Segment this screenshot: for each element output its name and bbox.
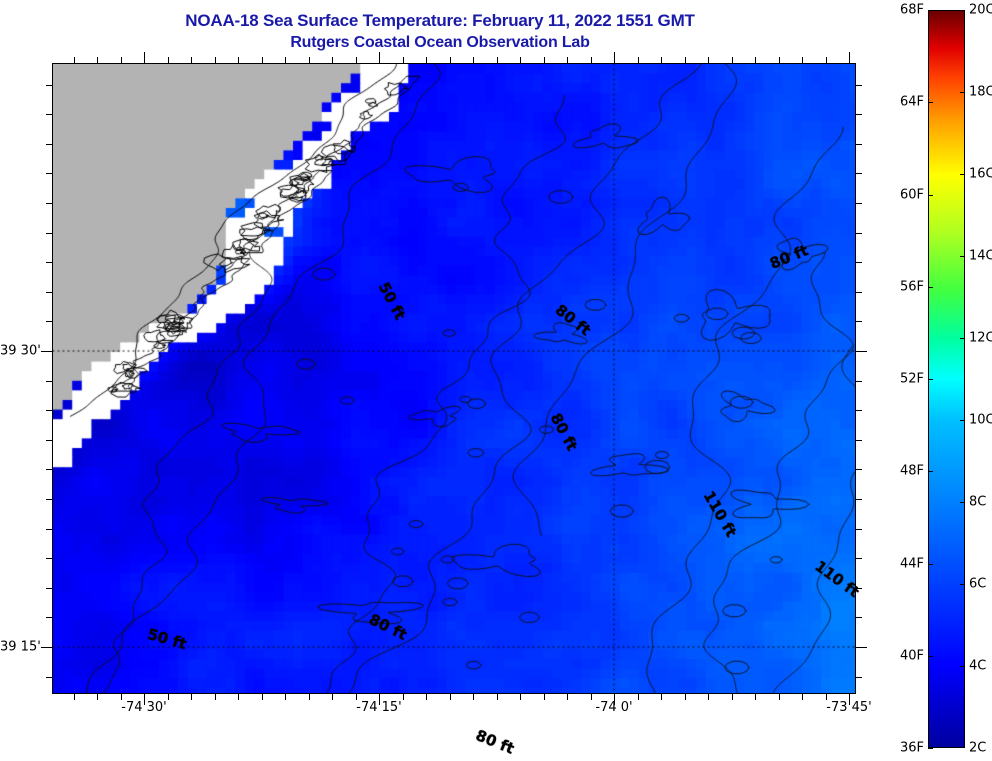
colorbar-tick-celsius xyxy=(960,584,965,585)
colorbar-label-fahrenheit: 56F xyxy=(900,279,924,294)
y-axis-tick-left xyxy=(46,292,52,293)
y-axis-label: 39 30' xyxy=(0,344,38,359)
x-axis-tick-top xyxy=(520,57,521,63)
colorbar-label-fahrenheit: 48F xyxy=(900,464,924,479)
y-axis-tick-left xyxy=(46,469,52,470)
x-axis-tick-bottom xyxy=(74,694,75,700)
colorbar-label-celsius: 18C xyxy=(969,85,992,100)
colorbar-tick-fahrenheit xyxy=(928,102,933,103)
colorbar-label-celsius: 6C xyxy=(969,577,986,592)
x-axis-tick-top xyxy=(97,57,98,63)
colorbar-tick-fahrenheit xyxy=(928,564,933,565)
y-axis-tick-right xyxy=(856,381,862,382)
x-axis-tick-bottom xyxy=(755,694,756,700)
x-axis-tick-bottom xyxy=(473,694,474,700)
y-axis-tick-left xyxy=(46,233,52,234)
x-axis-tick-top xyxy=(708,57,709,63)
colorbar-tick-fahrenheit xyxy=(928,379,933,380)
x-axis-tick-top xyxy=(473,57,474,63)
x-axis-tick-bottom xyxy=(497,694,498,700)
y-axis-tick-right xyxy=(856,203,862,204)
colorbar-gradient xyxy=(928,10,965,748)
x-axis-tick-bottom xyxy=(708,694,709,700)
x-axis-tick-top xyxy=(732,57,733,63)
y-axis-tick-left xyxy=(46,440,52,441)
colorbar-tick-celsius xyxy=(960,420,965,421)
colorbar-label-fahrenheit: 52F xyxy=(900,372,924,387)
colorbar-label-celsius: 12C xyxy=(969,331,992,346)
x-axis-tick-top xyxy=(309,57,310,63)
colorbar-tick-fahrenheit xyxy=(928,748,933,749)
colorbar-tick-fahrenheit xyxy=(928,471,933,472)
x-axis-tick-top xyxy=(755,57,756,63)
x-axis-tick-bottom xyxy=(450,694,451,700)
colorbar-tick-celsius xyxy=(960,92,965,93)
x-axis-tick-top xyxy=(591,57,592,63)
y-axis-tick-left xyxy=(46,617,52,618)
temperature-colorbar[interactable] xyxy=(928,10,965,748)
x-axis-tick-top xyxy=(661,57,662,63)
y-axis-tick-right xyxy=(856,262,862,263)
colorbar-label-celsius: 8C xyxy=(969,495,986,510)
x-axis-tick-top xyxy=(802,57,803,63)
y-axis-tick-left xyxy=(46,114,52,115)
x-axis-tick-bottom xyxy=(732,694,733,700)
x-axis-tick-top xyxy=(168,57,169,63)
colorbar-label-fahrenheit: 36F xyxy=(900,741,924,756)
y-axis-tick-right xyxy=(856,351,867,352)
x-axis-label: -74 30' xyxy=(121,700,166,715)
x-axis-tick-bottom xyxy=(591,694,592,700)
y-axis-tick-right xyxy=(856,292,862,293)
y-axis-tick-right xyxy=(856,647,867,648)
x-axis-tick-top xyxy=(379,52,380,63)
x-axis-tick-top xyxy=(285,57,286,63)
y-axis-tick-left xyxy=(46,529,52,530)
x-axis-tick-top xyxy=(191,57,192,63)
x-axis-tick-top xyxy=(849,52,850,63)
colorbar-label-fahrenheit: 44F xyxy=(900,556,924,571)
x-axis-tick-top xyxy=(779,57,780,63)
y-axis-tick-left xyxy=(46,558,52,559)
x-axis-label: -74 0' xyxy=(595,700,632,715)
bathymetry-contour-label: 80 ft xyxy=(473,726,517,758)
colorbar-tick-celsius xyxy=(960,256,965,257)
sst-map-plot-area[interactable] xyxy=(52,63,856,694)
y-axis-tick-left xyxy=(46,381,52,382)
colorbar-label-fahrenheit: 64F xyxy=(900,95,924,110)
colorbar-label-celsius: 20C xyxy=(969,3,992,18)
x-axis-tick-top xyxy=(567,57,568,63)
x-axis-tick-bottom xyxy=(638,694,639,700)
x-axis-tick-bottom xyxy=(262,694,263,700)
x-axis-tick-bottom xyxy=(332,694,333,700)
title-line-2: Rutgers Coastal Ocean Observation Lab xyxy=(0,32,880,54)
x-axis-tick-bottom xyxy=(426,694,427,700)
y-axis-tick-right xyxy=(856,114,862,115)
colorbar-tick-celsius xyxy=(960,338,965,339)
coastline-bathymetry-overlay xyxy=(53,64,855,693)
x-axis-tick-bottom xyxy=(168,694,169,700)
x-axis-tick-top xyxy=(638,57,639,63)
y-axis-tick-right xyxy=(856,499,862,500)
x-axis-tick-bottom xyxy=(779,694,780,700)
x-axis-tick-top xyxy=(614,52,615,63)
x-axis-tick-top xyxy=(262,57,263,63)
colorbar-tick-fahrenheit xyxy=(928,195,933,196)
x-axis-tick-bottom xyxy=(97,694,98,700)
x-axis-tick-bottom xyxy=(238,694,239,700)
x-axis-tick-bottom xyxy=(567,694,568,700)
x-axis-tick-bottom xyxy=(403,694,404,700)
x-axis-tick-top xyxy=(450,57,451,63)
y-axis-tick-left xyxy=(46,410,52,411)
x-axis-label: -73 45' xyxy=(826,700,871,715)
colorbar-tick-celsius xyxy=(960,502,965,503)
title-line-1: NOAA-18 Sea Surface Temperature: Februar… xyxy=(0,10,880,32)
y-axis-tick-right xyxy=(856,529,862,530)
x-axis-tick-bottom xyxy=(685,694,686,700)
x-axis-tick-bottom xyxy=(520,694,521,700)
page-title: NOAA-18 Sea Surface Temperature: Februar… xyxy=(0,10,880,54)
y-axis-tick-right xyxy=(856,321,862,322)
x-axis-tick-top xyxy=(403,57,404,63)
x-axis-tick-top xyxy=(685,57,686,63)
y-axis-tick-left xyxy=(46,173,52,174)
y-axis-tick-left xyxy=(46,588,52,589)
x-axis-tick-bottom xyxy=(309,694,310,700)
colorbar-label-fahrenheit: 68F xyxy=(900,3,924,18)
x-axis-tick-bottom xyxy=(661,694,662,700)
y-axis-tick-left xyxy=(46,321,52,322)
y-axis-tick-left xyxy=(41,647,52,648)
x-axis-tick-bottom xyxy=(544,694,545,700)
x-axis-tick-top xyxy=(144,52,145,63)
colorbar-label-celsius: 4C xyxy=(969,659,986,674)
y-axis-tick-left xyxy=(46,203,52,204)
y-axis-tick-right xyxy=(856,233,862,234)
y-axis-tick-right xyxy=(856,677,862,678)
x-axis-tick-top xyxy=(356,57,357,63)
y-axis-tick-left xyxy=(46,85,52,86)
colorbar-label-celsius: 10C xyxy=(969,413,992,428)
y-axis-tick-left xyxy=(46,677,52,678)
colorbar-label-fahrenheit: 40F xyxy=(900,648,924,663)
y-axis-tick-right xyxy=(856,440,862,441)
x-axis-tick-top xyxy=(121,57,122,63)
colorbar-label-celsius: 2C xyxy=(969,741,986,756)
y-axis-tick-left xyxy=(46,262,52,263)
y-axis-tick-right xyxy=(856,469,862,470)
x-axis-tick-top xyxy=(332,57,333,63)
y-axis-tick-right xyxy=(856,85,862,86)
colorbar-tick-celsius xyxy=(960,666,965,667)
colorbar-label-fahrenheit: 60F xyxy=(900,187,924,202)
y-axis-tick-right xyxy=(856,410,862,411)
y-axis-tick-right xyxy=(856,144,862,145)
colorbar-tick-celsius xyxy=(960,174,965,175)
x-axis-tick-top xyxy=(826,57,827,63)
y-axis-tick-left xyxy=(41,351,52,352)
y-axis-tick-right xyxy=(856,173,862,174)
x-axis-tick-bottom xyxy=(215,694,216,700)
colorbar-label-celsius: 14C xyxy=(969,249,992,264)
colorbar-label-celsius: 16C xyxy=(969,167,992,182)
x-axis-tick-bottom xyxy=(191,694,192,700)
y-axis-tick-right xyxy=(856,558,862,559)
y-axis-tick-left xyxy=(46,144,52,145)
colorbar-tick-fahrenheit xyxy=(928,287,933,288)
x-axis-tick-top xyxy=(238,57,239,63)
y-axis-tick-left xyxy=(46,499,52,500)
y-axis-label: 39 15' xyxy=(0,640,38,655)
x-axis-tick-bottom xyxy=(285,694,286,700)
x-axis-tick-top xyxy=(497,57,498,63)
y-axis-tick-right xyxy=(856,617,862,618)
x-axis-tick-top xyxy=(544,57,545,63)
x-axis-label: -74 15' xyxy=(356,700,401,715)
x-axis-tick-top xyxy=(74,57,75,63)
x-axis-tick-bottom xyxy=(802,694,803,700)
x-axis-tick-top xyxy=(426,57,427,63)
x-axis-tick-top xyxy=(215,57,216,63)
colorbar-tick-fahrenheit xyxy=(928,656,933,657)
